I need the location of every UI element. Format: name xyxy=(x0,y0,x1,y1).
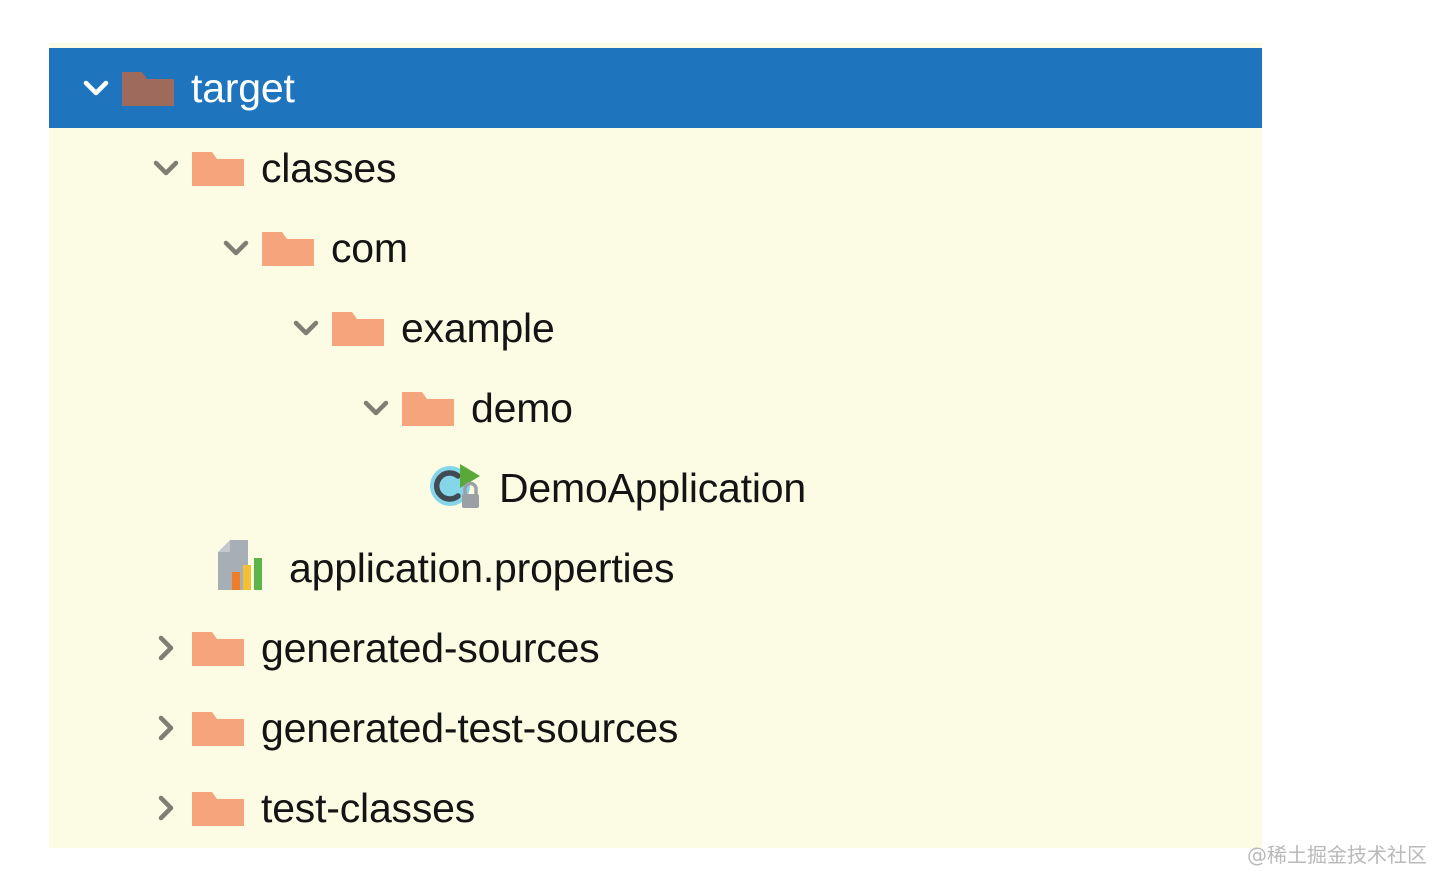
chevron-down-icon[interactable] xyxy=(283,305,329,351)
watermark: @稀土掘金技术社区 xyxy=(1247,839,1427,868)
tree-row-label: target xyxy=(177,68,295,109)
tree-row-label: application.properties xyxy=(275,548,674,589)
chevron-right-icon[interactable] xyxy=(143,705,189,751)
tree-row-com[interactable]: com xyxy=(49,208,1262,288)
chevron-down-icon[interactable] xyxy=(213,225,259,271)
chevron-right-icon[interactable] xyxy=(143,625,189,671)
java-class-runnable-locked-icon xyxy=(423,460,485,516)
chevron-down-icon[interactable] xyxy=(143,145,189,191)
folder-icon xyxy=(189,145,247,191)
tree-row-label: DemoApplication xyxy=(485,468,806,509)
tree-row-label: com xyxy=(317,228,408,269)
folder-icon xyxy=(259,225,317,271)
folder-icon xyxy=(189,785,247,831)
tree-row-generated-test-sources[interactable]: generated-test-sources xyxy=(49,688,1262,768)
chevron-down-icon[interactable] xyxy=(353,385,399,431)
project-file-tree-panel[interactable]: targetclassescomexampledemoDemoApplicati… xyxy=(49,43,1262,848)
tree-row-generated-sources[interactable]: generated-sources xyxy=(49,608,1262,688)
tree-row-label: test-classes xyxy=(247,788,475,829)
tree-row-demoapplication[interactable]: DemoApplication xyxy=(49,448,1262,528)
tree-row-example[interactable]: example xyxy=(49,288,1262,368)
folder-icon xyxy=(189,705,247,751)
folder-icon xyxy=(189,625,247,671)
folder-icon xyxy=(119,65,177,111)
tree-row-application-properties[interactable]: application.properties xyxy=(49,528,1262,608)
chevron-right-icon[interactable] xyxy=(143,785,189,831)
chevron-down-icon[interactable] xyxy=(73,65,119,111)
tree-row-label: generated-test-sources xyxy=(247,708,678,749)
tree-row-label: classes xyxy=(247,148,396,189)
tree-row-label: example xyxy=(387,308,555,349)
tree-row-demo[interactable]: demo xyxy=(49,368,1262,448)
tree-row-label: generated-sources xyxy=(247,628,599,669)
folder-icon xyxy=(329,305,387,351)
tree-row-target[interactable]: target xyxy=(49,48,1262,128)
properties-file-icon xyxy=(213,540,275,596)
tree-row-label: demo xyxy=(457,388,573,429)
tree-row-classes[interactable]: classes xyxy=(49,128,1262,208)
folder-icon xyxy=(399,385,457,431)
tree-row-test-classes[interactable]: test-classes xyxy=(49,768,1262,848)
